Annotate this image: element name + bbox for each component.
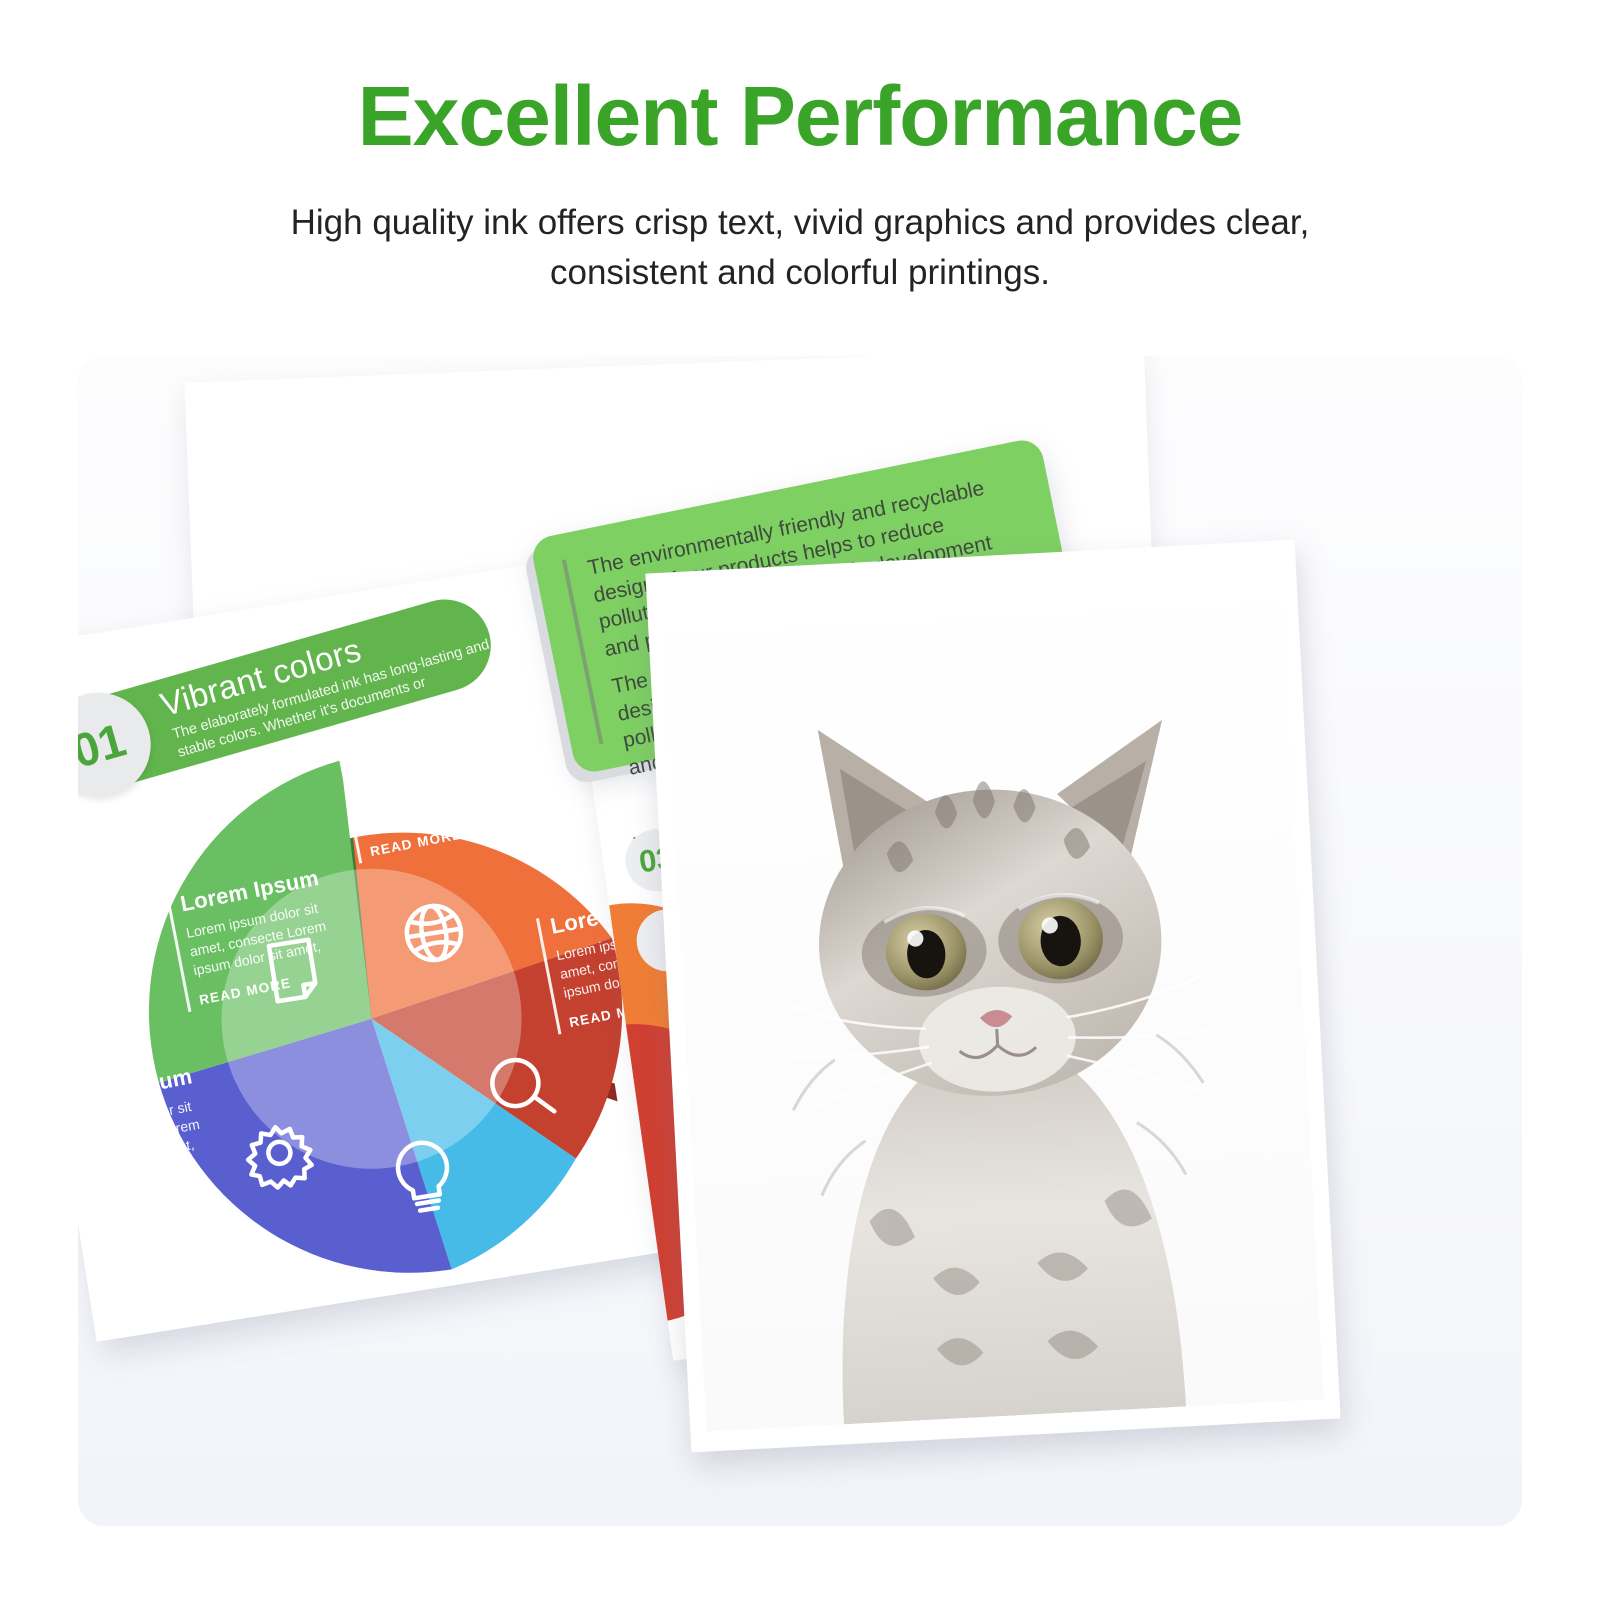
page-subtitle: High quality ink offers crisp text, vivi… (235, 158, 1365, 297)
page-title: Excellent Performance (0, 0, 1600, 158)
promo-page: Excellent Performance High quality ink o… (0, 0, 1600, 1600)
header: Excellent Performance High quality ink o… (0, 0, 1600, 297)
scene: 01 Vibrant colors The elaborately formul… (78, 356, 1522, 1526)
kitten-illustration (662, 554, 1323, 1431)
kitten-photo-image (662, 554, 1323, 1431)
kitten-photo-print (645, 540, 1340, 1453)
